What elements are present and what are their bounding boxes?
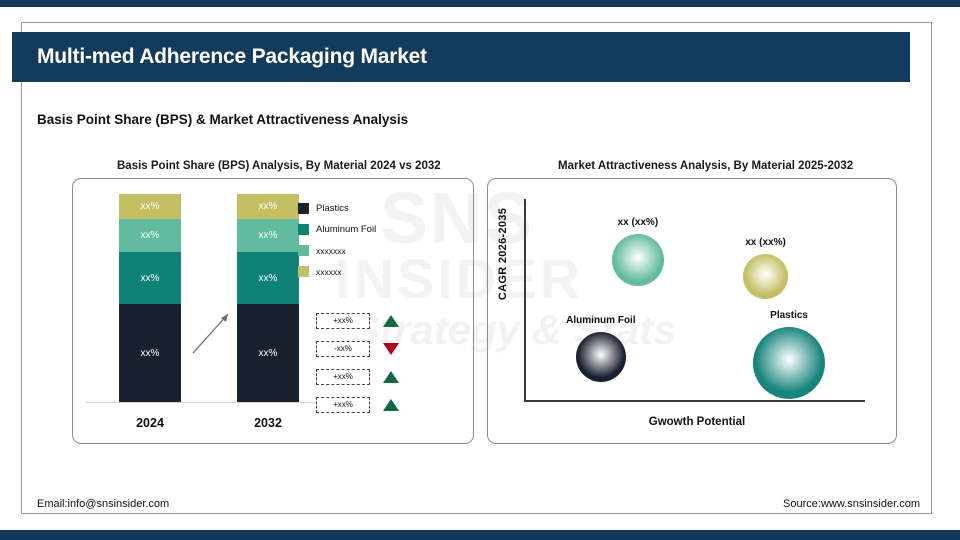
bps-growth-box-list: +xx%-xx%+xx%+xx% [316,310,399,422]
growth-indicator-row: +xx% [316,366,399,387]
growth-indicator-row: +xx% [316,310,399,331]
bps-segment-xxxxxxx[interactable]: xx% [119,219,181,252]
legend-swatch-icon [298,245,309,256]
bps-segment-xxxxxx[interactable]: xx% [119,194,181,219]
bubble-plastics[interactable] [753,327,825,399]
attractiveness-x-axis [524,400,865,402]
bottom-accent-bar [0,530,960,540]
bps-segment-label: xx% [259,201,278,212]
bubble-aluminum-foil[interactable] [576,332,626,382]
bps-xtick-2032: 2032 [237,416,299,430]
legend-label: Plastics [316,203,349,214]
bps-segment-plastics[interactable]: xx% [237,304,299,402]
bps-bar-2032[interactable]: xx%xx%xx%xx% [237,194,299,402]
bps-segment-aluminum-foil[interactable]: xx% [119,252,181,304]
legend-item-aluminum-foil[interactable]: Aluminum Foil [298,224,408,235]
bps-legend: PlasticsAluminum Foilxxxxxxxxxxxxx [298,203,408,287]
legend-label: xxxxxxx [316,246,346,256]
bubble-label: Plastics [729,310,849,321]
attractiveness-y-axis [524,199,526,401]
bps-bar-2024[interactable]: xx%xx%xx%xx% [119,194,181,402]
legend-swatch-icon [298,203,309,214]
bps-segment-label: xx% [259,230,278,241]
attractiveness-y-axis-label: CAGR 2026-2035 [497,204,509,304]
trend-arrow-icon [190,308,234,356]
legend-label: Aluminum Foil [316,224,376,235]
legend-item-plastics[interactable]: Plastics [298,203,408,214]
bps-chart-title: Basis Point Share (BPS) Analysis, By Mat… [117,160,441,172]
legend-swatch-icon [298,224,309,235]
growth-value-box: +xx% [316,369,370,385]
attractiveness-x-axis-label: Gwowth Potential [587,416,807,428]
bubble-xx-xx[interactable] [743,254,788,299]
top-accent-bar [0,0,960,7]
attractiveness-chart-title: Market Attractiveness Analysis, By Mater… [558,160,853,172]
growth-indicator-row: -xx% [316,338,399,359]
page-title: Multi-med Adherence Packaging Market [37,45,427,69]
footer-email: Email:info@snsinsider.com [37,498,169,510]
bps-segment-label: xx% [259,348,278,359]
growth-value-box: -xx% [316,341,370,357]
bubble-label: xx (xx%) [578,217,698,228]
arrow-up-icon [383,371,399,383]
arrow-down-icon [383,343,399,355]
bps-chart-plot: xx%xx%xx%xx% xx%xx%xx%xx% 2024 2032 [72,178,474,444]
page-subtitle: Basis Point Share (BPS) & Market Attract… [37,112,408,127]
bps-segment-label: xx% [141,201,160,212]
growth-value-box: +xx% [316,397,370,413]
bubble-label: Aluminum Foil [541,315,661,326]
legend-item-xxxxxx[interactable]: xxxxxx [298,266,408,277]
slide-root: Multi-med Adherence Packaging Market Bas… [0,0,960,540]
bps-segment-plastics[interactable]: xx% [119,304,181,402]
growth-value-box: +xx% [316,313,370,329]
growth-indicator-row: +xx% [316,394,399,415]
bubble-label: xx (xx%) [706,237,826,248]
legend-swatch-icon [298,266,309,277]
bps-segment-label: xx% [141,273,160,284]
bubble-xx-xx[interactable] [612,234,664,286]
arrow-up-icon [383,315,399,327]
footer-source: Source:www.snsinsider.com [783,498,920,510]
bps-segment-xxxxxx[interactable]: xx% [237,194,299,219]
attractiveness-plot: CAGR 2026-2035 Gwowth Potential xx (xx%)… [487,178,897,444]
legend-label: xxxxxx [316,267,342,277]
legend-item-xxxxxxx[interactable]: xxxxxxx [298,245,408,256]
bps-segment-xxxxxxx[interactable]: xx% [237,219,299,252]
bps-segment-label: xx% [141,348,160,359]
bps-segment-aluminum-foil[interactable]: xx% [237,252,299,304]
bps-segment-label: xx% [141,230,160,241]
title-bar: Multi-med Adherence Packaging Market [12,32,910,82]
bps-segment-label: xx% [259,273,278,284]
bps-xtick-2024: 2024 [119,416,181,430]
arrow-up-icon [383,399,399,411]
